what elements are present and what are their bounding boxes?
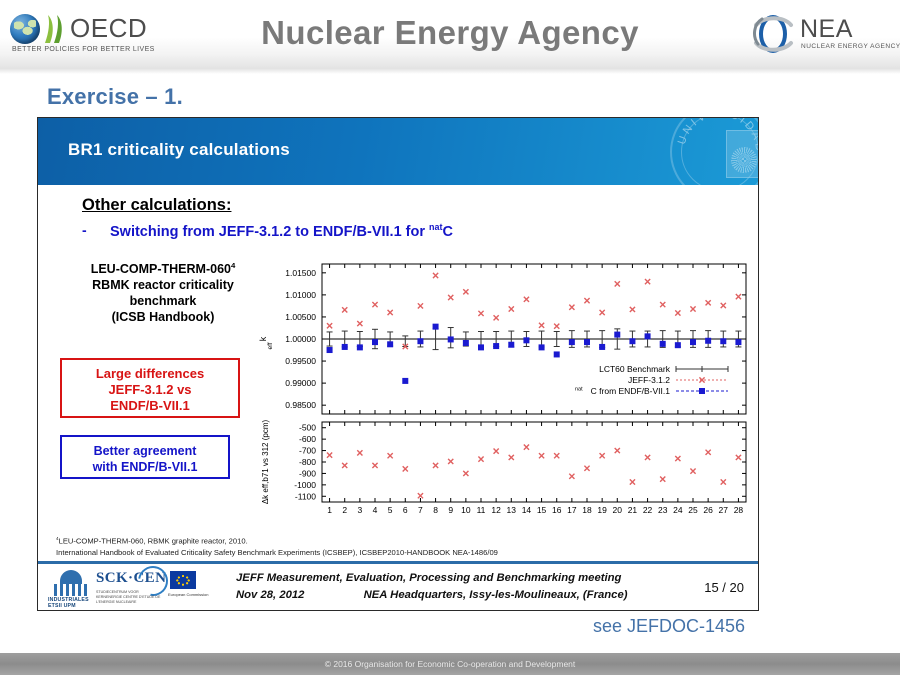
svg-text:9: 9 xyxy=(448,505,453,515)
callout-red-line3: ENDF/B-VII.1 xyxy=(110,398,189,413)
european-commission-logo: European Commission xyxy=(168,568,220,604)
svg-text:0.99000: 0.99000 xyxy=(285,378,316,388)
svg-text:16: 16 xyxy=(552,505,562,515)
eu-stars-icon xyxy=(170,571,196,589)
svg-text:22: 22 xyxy=(643,505,653,515)
svg-text:17: 17 xyxy=(567,505,577,515)
svg-text:0.99500: 0.99500 xyxy=(285,356,316,366)
footnote-line1: LEU-COMP-THERM-060, RBMK graphite reacto… xyxy=(59,537,248,546)
svg-text:18: 18 xyxy=(582,505,592,515)
nea-wordmark: NEA xyxy=(800,15,853,44)
svg-text:-600: -600 xyxy=(299,434,316,444)
svg-text:15: 15 xyxy=(537,505,547,515)
svg-text:0.98500: 0.98500 xyxy=(285,400,316,410)
svg-text:1.00500: 1.00500 xyxy=(285,312,316,322)
slide-header: BR1 criticality calculations UNIVERSIDAD xyxy=(38,118,758,185)
svg-text:26: 26 xyxy=(703,505,713,515)
footnote: 4LEU-COMP-THERM-060, RBMK graphite react… xyxy=(56,533,736,558)
university-seal-icon: UNIVERSIDAD xyxy=(670,118,758,185)
footer-meeting-line1: JEFF Measurement, Evaluation, Processing… xyxy=(236,572,621,584)
sck-cen-logo: SCK·CEN STUDIECENTRUM VOOR KERNENERGIE C… xyxy=(96,568,162,604)
other-calculations-heading: Other calculations: xyxy=(82,196,231,215)
svg-text:Δk eff,b71 vs 312 (pcm): Δk eff,b71 vs 312 (pcm) xyxy=(261,419,270,504)
upm-dome-icon xyxy=(60,570,82,584)
upm-building-icon xyxy=(54,584,88,596)
svg-text:LCT60 Benchmark: LCT60 Benchmark xyxy=(599,364,671,374)
svg-text:28: 28 xyxy=(734,505,744,515)
svg-text:eff: eff xyxy=(267,342,274,349)
footer-meeting-date: Nov 28, 2012 xyxy=(236,589,304,601)
app-header: OECD BETTER POLICIES FOR BETTER LIVES Nu… xyxy=(0,0,900,69)
callout-blue-line2: with ENDF/B-VII.1 xyxy=(93,460,198,474)
svg-text:6: 6 xyxy=(403,505,408,515)
nea-logo: NEA NUCLEAR ENERGY AGENCY xyxy=(744,10,892,60)
svg-text:2: 2 xyxy=(342,505,347,515)
eu-label: European Commission xyxy=(168,592,208,597)
svg-text:25: 25 xyxy=(688,505,698,515)
svg-text:27: 27 xyxy=(719,505,729,515)
svg-text:10: 10 xyxy=(461,505,471,515)
svg-text:nat: nat xyxy=(575,387,583,393)
svg-text:4: 4 xyxy=(373,505,378,515)
svg-text:-1100: -1100 xyxy=(295,491,316,501)
upm-label: INDUSTRIALES ETSII UPM xyxy=(48,597,94,609)
svg-text:3: 3 xyxy=(357,505,362,515)
benchmark-line3: benchmark xyxy=(130,294,197,308)
footer-meeting-place: NEA Headquarters, Issy-les-Moulineaux, (… xyxy=(364,589,628,601)
svg-text:8: 8 xyxy=(433,505,438,515)
svg-text:1.01500: 1.01500 xyxy=(285,268,316,278)
svg-text:1.00000: 1.00000 xyxy=(285,334,316,344)
bullet-text-part1: Switching from JEFF-3.1.2 to ENDF/B-VII.… xyxy=(110,224,429,240)
benchmark-line1: LEU-COMP-THERM-060 xyxy=(91,262,231,276)
bullet-dash: - xyxy=(82,222,87,238)
svg-text:-1000: -1000 xyxy=(294,480,316,490)
seal-crest-icon xyxy=(726,130,758,178)
svg-text:12: 12 xyxy=(491,505,501,515)
benchmark-caption: LEU-COMP-THERM-0604 RBMK reactor critica… xyxy=(54,258,272,325)
svg-text:19: 19 xyxy=(597,505,607,515)
svg-text:k: k xyxy=(258,336,268,341)
svg-text:-800: -800 xyxy=(299,457,316,467)
see-document-reference: see JEFDOC-1456 xyxy=(593,616,745,637)
slide-container: BR1 criticality calculations UNIVERSIDAD… xyxy=(37,117,759,611)
svg-text:23: 23 xyxy=(658,505,668,515)
callout-blue-line1: Better agreement xyxy=(94,444,197,458)
svg-text:1.01000: 1.01000 xyxy=(285,290,316,300)
slide-page-number: 15 / 20 xyxy=(704,580,744,595)
bullet-superscript-nat: nat xyxy=(429,222,442,232)
svg-text:14: 14 xyxy=(522,505,532,515)
footnote-line2: International Handbook of Evaluated Crit… xyxy=(56,548,498,557)
footer-meeting-info: JEFF Measurement, Evaluation, Processing… xyxy=(236,570,686,604)
slide-footer: INDUSTRIALES ETSII UPM SCK·CEN STUDIECEN… xyxy=(38,561,758,610)
svg-text:-900: -900 xyxy=(299,468,316,478)
callout-red-line1: Large differences xyxy=(96,366,204,381)
svg-text:C from ENDF/B-VII.1: C from ENDF/B-VII.1 xyxy=(591,386,671,396)
svg-text:13: 13 xyxy=(507,505,517,515)
bullet-switching-text: Switching from JEFF-3.1.2 to ENDF/B-VII.… xyxy=(110,222,453,240)
svg-text:JEFF-3.1.2: JEFF-3.1.2 xyxy=(628,375,670,385)
svg-text:5: 5 xyxy=(388,505,393,515)
copyright-bar: © 2016 Organisation for Economic Co-oper… xyxy=(0,653,900,675)
svg-text:24: 24 xyxy=(673,505,683,515)
callout-red-line2: JEFF-3.1.2 vs xyxy=(108,382,191,397)
footer-meeting-line2: Nov 28, 2012 NEA Headquarters, Issy-les-… xyxy=(236,587,686,604)
chart-svg: 1.015001.010001.005001.000000.995000.990… xyxy=(244,256,754,518)
svg-text:11: 11 xyxy=(477,505,486,515)
slide-header-title: BR1 criticality calculations xyxy=(68,140,290,160)
benchmark-line2: RBMK reactor criticality xyxy=(92,278,234,292)
svg-text:7: 7 xyxy=(418,505,423,515)
bullet-text-part2: C xyxy=(443,224,453,240)
sck-cen-sublabel: STUDIECENTRUM VOOR KERNENERGIE CENTRE D'… xyxy=(96,590,162,605)
svg-text:20: 20 xyxy=(613,505,623,515)
upm-logo: INDUSTRIALES ETSII UPM xyxy=(48,568,94,604)
svg-text:21: 21 xyxy=(628,505,638,515)
svg-text:-700: -700 xyxy=(299,446,316,456)
benchmark-line1-sup: 4 xyxy=(231,261,235,270)
nea-swirl-icon xyxy=(750,12,796,56)
nea-tagline: NUCLEAR ENERGY AGENCY xyxy=(801,43,900,50)
benchmark-line4: (ICSB Handbook) xyxy=(112,310,215,324)
callout-better-agreement: Better agreement with ENDF/B-VII.1 xyxy=(60,435,230,479)
criticality-chart: 1.015001.010001.005001.000000.995000.990… xyxy=(244,256,754,518)
svg-text:1: 1 xyxy=(327,505,332,515)
callout-large-differences: Large differences JEFF-3.1.2 vs ENDF/B-V… xyxy=(60,358,240,418)
svg-text:-500: -500 xyxy=(299,423,316,433)
exercise-title: Exercise – 1. xyxy=(47,84,183,110)
